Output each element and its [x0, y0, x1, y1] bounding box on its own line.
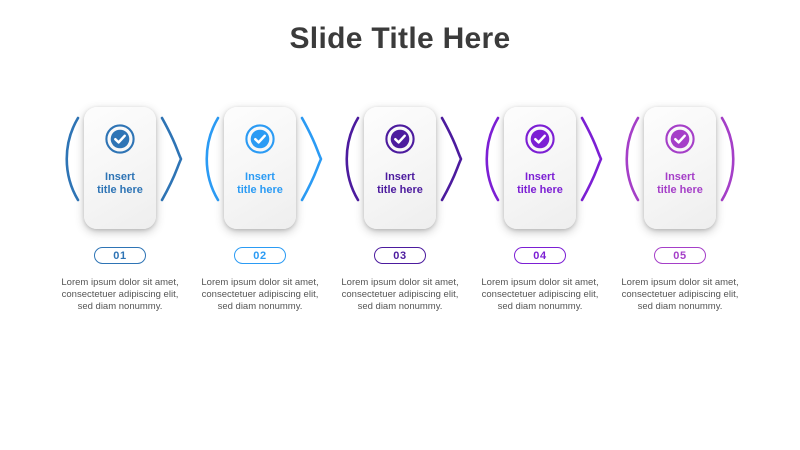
process-step: Inserttitle here03Lorem ipsum dolor sit … — [330, 88, 470, 368]
process-step: Inserttitle here02Lorem ipsum dolor sit … — [190, 88, 330, 368]
chevron-right-icon — [302, 118, 321, 200]
step-card-title-line1: Insert — [665, 171, 695, 183]
step-card-title: Inserttitle here — [84, 171, 156, 197]
check-circle-icon — [385, 124, 415, 154]
check-circle-icon — [245, 124, 275, 154]
check-circle-icon — [665, 124, 695, 154]
step-description: Lorem ipsum dolor sit amet, consectetuer… — [57, 277, 183, 313]
check-circle-icon — [385, 124, 415, 154]
check-circle-icon — [525, 124, 555, 154]
arc-open-icon — [627, 118, 638, 200]
step-number-badge[interactable]: 04 — [514, 247, 566, 264]
process-step: Inserttitle here04Lorem ipsum dolor sit … — [470, 88, 610, 368]
step-description: Lorem ipsum dolor sit amet, consectetuer… — [197, 277, 323, 313]
step-card-title: Inserttitle here — [504, 171, 576, 197]
step-card-title: Inserttitle here — [224, 171, 296, 197]
chevron-right-icon — [162, 118, 181, 200]
step-card[interactable]: Inserttitle here — [224, 107, 296, 229]
step-number-badge[interactable]: 01 — [94, 247, 146, 264]
step-card-title-line1: Insert — [385, 171, 415, 183]
check-circle-icon — [245, 124, 275, 154]
step-description: Lorem ipsum dolor sit amet, consectetuer… — [477, 277, 603, 313]
check-circle-icon — [665, 124, 695, 154]
arc-close-icon — [722, 118, 733, 200]
check-circle-icon — [105, 124, 135, 154]
step-card[interactable]: Inserttitle here — [84, 107, 156, 229]
process-step: Inserttitle here01Lorem ipsum dolor sit … — [50, 88, 190, 368]
step-card-title-line2: title here — [97, 184, 143, 196]
step-card-title-line2: title here — [657, 184, 703, 196]
step-card-title-line2: title here — [377, 184, 423, 196]
step-card-title: Inserttitle here — [364, 171, 436, 197]
process-steps-row: Inserttitle here01Lorem ipsum dolor sit … — [0, 88, 800, 368]
step-card-title: Inserttitle here — [644, 171, 716, 197]
arc-open-icon — [347, 118, 358, 200]
step-description: Lorem ipsum dolor sit amet, consectetuer… — [337, 277, 463, 313]
arc-open-icon — [487, 118, 498, 200]
arc-open-icon — [67, 118, 78, 200]
arc-open-icon — [207, 118, 218, 200]
step-number-badge[interactable]: 03 — [374, 247, 426, 264]
page-title: Slide Title Here — [0, 22, 800, 56]
step-number-badge[interactable]: 05 — [654, 247, 706, 264]
step-number-badge[interactable]: 02 — [234, 247, 286, 264]
step-description: Lorem ipsum dolor sit amet, consectetuer… — [617, 277, 743, 313]
step-card[interactable]: Inserttitle here — [644, 107, 716, 229]
step-card-title-line2: title here — [237, 184, 283, 196]
step-card-title-line2: title here — [517, 184, 563, 196]
check-circle-icon — [525, 124, 555, 154]
slide-canvas: Slide Title Here Inserttitle here01Lorem… — [0, 0, 800, 450]
step-card-title-line1: Insert — [245, 171, 275, 183]
step-card[interactable]: Inserttitle here — [504, 107, 576, 229]
chevron-right-icon — [582, 118, 601, 200]
chevron-right-icon — [442, 118, 461, 200]
step-card-title-line1: Insert — [525, 171, 555, 183]
process-step: Inserttitle here05Lorem ipsum dolor sit … — [610, 88, 750, 368]
step-card-title-line1: Insert — [105, 171, 135, 183]
step-card[interactable]: Inserttitle here — [364, 107, 436, 229]
check-circle-icon — [105, 124, 135, 154]
